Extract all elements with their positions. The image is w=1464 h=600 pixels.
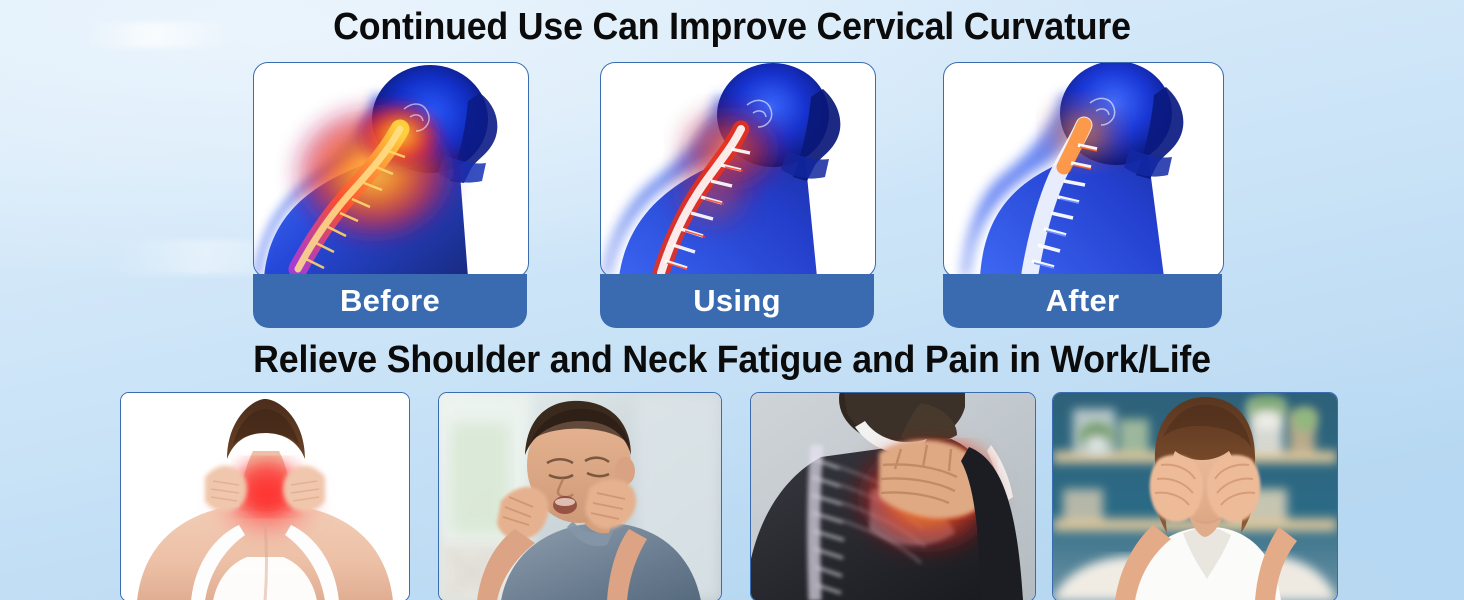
photo-scene-neck-pain <box>121 393 409 600</box>
xray-frame-using <box>600 62 876 278</box>
photo-scene-shoulder-xray <box>751 393 1035 600</box>
progression-card-before[interactable]: Before <box>253 62 527 278</box>
progression-label-using: Using <box>600 274 874 328</box>
xray-illustration-after <box>944 63 1223 277</box>
xray-frame-after <box>943 62 1224 278</box>
use-case-photo-headache[interactable] <box>438 392 722 600</box>
progression-label-after: After <box>943 274 1222 328</box>
progression-card-after[interactable]: After <box>943 62 1222 278</box>
use-case-photo-shoulder-xray[interactable] <box>750 392 1036 600</box>
progression-label-before: Before <box>253 274 527 328</box>
headline-cervical-curvature: Continued Use Can Improve Cervical Curva… <box>44 6 1420 48</box>
product-banner: Continued Use Can Improve Cervical Curva… <box>0 0 1464 600</box>
use-case-photo-tired-woman[interactable] <box>1052 392 1338 600</box>
xray-illustration-before <box>254 63 528 277</box>
progression-card-using[interactable]: Using <box>600 62 874 278</box>
use-case-photo-neck-pain[interactable] <box>120 392 410 600</box>
photo-scene-tired-woman <box>1053 393 1337 600</box>
photo-scene-headache <box>439 393 721 600</box>
xray-frame-before <box>253 62 529 278</box>
headline-relieve-fatigue: Relieve Shoulder and Neck Fatigue and Pa… <box>44 339 1420 381</box>
xray-illustration-using <box>601 63 875 277</box>
